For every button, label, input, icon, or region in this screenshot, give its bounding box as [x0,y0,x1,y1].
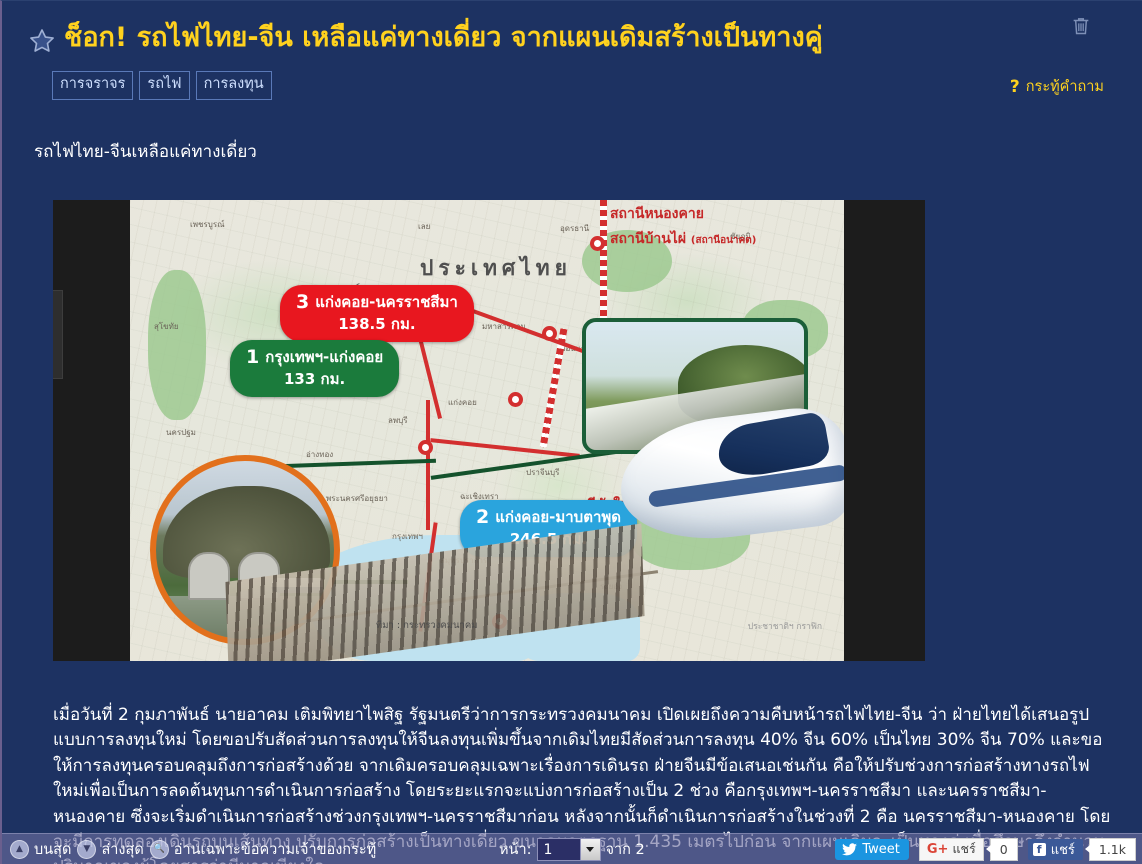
route-label-3: 3แก่งคอย-นครราชสีมา 138.5 กม. [280,285,474,342]
station-subtitle: (สถานีอนาคต) [691,235,756,246]
bottom-toolbar: ▲ บนสุด ▼ ล่างสุด 🔍 อ่านเฉพาะข้อความเจ้า… [2,833,1142,864]
high-speed-train-photo [560,408,844,623]
twitter-share-button[interactable]: Tweet [835,839,909,860]
tag-item-0[interactable]: การจราจร [52,71,133,100]
route-distance: 133 กม. [246,370,383,389]
forum-topic-page: ช็อก! รถไฟไทย-จีน เหลือแค่ทางเดี่ยว จากแ… [0,0,1142,864]
scroll-to-bottom-button[interactable]: ▼ ล่างสุด [77,838,143,861]
station-marker [542,326,557,341]
place-label: นครปฐม [166,426,196,439]
google-plus-share-group: G+ แชร์ 0 [919,838,1018,861]
station-name: สถานีบ้านไผ่ [610,231,686,247]
image-source-note: ที่มา : กระทรวงคมนาคม [376,618,477,633]
place-label: อุดรธานี [560,222,589,235]
station-label-nongkhai: สถานีหนองคาย [610,203,704,225]
facebook-share-group: f แชร์ 1.1k [1028,838,1136,861]
image-viewer[interactable]: ประเทศไทย เพชรบูรณ์ เลย อุดรธานี ชัยภูมิ… [53,200,925,661]
page-title: ช็อก! รถไฟไทย-จีน เหลือแค่ทางเดี่ยว จากแ… [64,19,823,55]
post-intro-text: รถไฟไทย-จีนเหลือแค่ทางเดี่ยว [34,138,1142,165]
place-label: ปราจีนบุรี [526,466,559,479]
scroll-to-bottom-label: ล่างสุด [101,838,143,861]
arrow-down-icon: ▼ [77,840,96,859]
route-label-1: 1กรุงเทพฯ-แก่งคอย 133 กม. [230,340,399,397]
facebook-share-button[interactable]: f แชร์ [1028,839,1083,860]
google-plus-share-button[interactable]: G+ แชร์ [919,838,984,861]
route-name: กรุงเทพฯ-แก่งคอย [265,348,383,366]
arrow-up-icon: ▲ [10,840,29,859]
place-label: สุโขทัย [154,320,179,333]
trash-icon[interactable] [1070,14,1092,38]
toolbar-left-group: ▲ บนสุด ▼ ล่างสุด 🔍 อ่านเฉพาะข้อความเจ้า… [10,838,376,861]
question-mark-icon: ? [1010,77,1020,97]
page-label: หน้า: [499,838,532,861]
page-select[interactable]: 1 [537,838,601,861]
star-icon[interactable] [28,27,56,55]
route-number: 2 [476,506,489,528]
facebook-share-label: แชร์ [1051,839,1075,860]
tag-item-1[interactable]: รถไฟ [139,71,189,100]
infographic-image[interactable]: ประเทศไทย เพชรบูรณ์ เลย อุดรธานี ชัยภูมิ… [130,200,844,661]
place-label: พระนครศรีอยุธยา [326,492,388,505]
place-label: แก่งคอย [448,396,477,409]
google-plus-count[interactable]: 0 [990,838,1018,861]
station-marker [508,392,523,407]
rail-line-segment [426,400,430,530]
owner-only-label: อ่านเฉพาะข้อความเจ้าของกระทู้ [174,838,376,861]
place-label: กรุงเทพฯ [392,530,423,543]
google-plus-share-label: แชร์ [952,839,975,859]
place-label: อ่างทอง [306,448,333,461]
google-plus-icon: G+ [927,842,949,857]
facebook-count[interactable]: 1.1k [1089,838,1136,861]
share-group: Tweet G+ แชร์ 0 f แชร์ 1.1k [835,838,1136,861]
facebook-icon: f [1033,843,1046,856]
image-credit: ประชาชาติฯ กราฟิก [748,619,822,633]
route-number: 3 [296,291,309,313]
magnifier-icon: 🔍 [150,840,169,859]
terrain-patch [148,270,206,420]
title-row: ช็อก! รถไฟไทย-จีน เหลือแค่ทางเดี่ยว จากแ… [22,19,1122,55]
tag-item-2[interactable]: การลงทุน [196,71,272,100]
rail-line-segment [600,200,607,330]
country-label: ประเทศไทย [420,252,572,285]
tag-list: การจราจร รถไฟ การลงทุน [52,71,1122,100]
question-badge-label: กระทู้คำถาม [1026,75,1104,98]
route-number: 1 [246,346,259,368]
station-label-banphai: สถานีบ้านไผ่ (สถานีอนาคต) [610,228,756,250]
scroll-to-top-label: บนสุด [34,838,71,861]
owner-only-filter-button[interactable]: 🔍 อ่านเฉพาะข้อความเจ้าของกระทู้ [150,838,376,861]
pagination-group: หน้า: 1 จาก 2 [499,838,645,861]
viewer-side-handle[interactable] [53,290,63,379]
twitter-share-label: Tweet [862,842,900,857]
place-label: ลพบุรี [388,414,408,427]
page-select-value: 1 [538,839,580,860]
chevron-down-icon[interactable] [580,839,600,860]
route-distance: 138.5 กม. [296,315,458,334]
topic-header: ช็อก! รถไฟไทย-จีน เหลือแค่ทางเดี่ยว จากแ… [2,1,1142,100]
question-badge: ? กระทู้คำถาม [1010,75,1104,98]
scroll-to-top-button[interactable]: ▲ บนสุด [10,838,71,861]
page-total-label: จาก 2 [606,838,645,861]
station-marker [418,440,433,455]
tunnel-portal-icon [188,552,230,600]
place-label: เพชรบูรณ์ [190,218,225,231]
twitter-icon [842,843,857,856]
place-label: เลย [418,220,430,233]
station-marker [590,236,605,251]
route-name: แก่งคอย-นครราชสีมา [315,293,458,311]
